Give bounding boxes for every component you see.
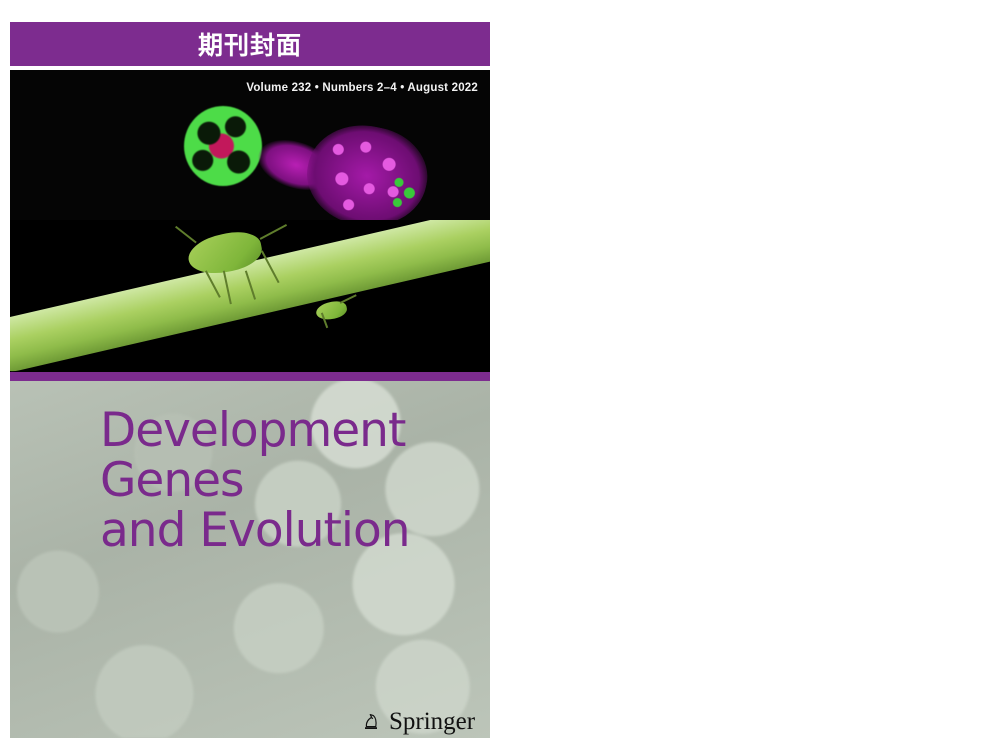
- springer-wordmark: Springer: [389, 708, 475, 736]
- journal-cover-image: Volume 232 • Numbers 2–4 • August 2022: [10, 70, 490, 738]
- fluorescence-micrograph: [160, 98, 440, 238]
- journal-title-line-1: Development: [100, 406, 490, 456]
- ovariole-green-signal: [383, 168, 423, 216]
- nymph-aphid: [315, 299, 349, 322]
- journal-title: Development Genes and Evolution: [100, 406, 490, 555]
- aphid-antenna: [175, 226, 196, 243]
- screenshot-root: 期刊封面 Volume 232 • Numbers 2–4 • August 2…: [0, 0, 1000, 750]
- germarium-micrograph-region: [184, 106, 262, 186]
- cover-purple-rule: [10, 372, 490, 381]
- cover-volume-line: Volume 232 • Numbers 2–4 • August 2022: [246, 82, 478, 94]
- left-panel-header-title: 期刊封面: [198, 26, 302, 62]
- aphid-photograph: [10, 220, 490, 372]
- cover-bottom-sem: Development Genes and Evolution Springer: [10, 372, 490, 738]
- aphid-antenna: [260, 224, 287, 239]
- cover-top-photo: Volume 232 • Numbers 2–4 • August 2022: [10, 70, 490, 372]
- journal-title-line-3: and Evolution: [100, 506, 490, 556]
- figure-panel: 研究總結 (I) Pea aphid Cricket Fly aasexual …: [500, 0, 1000, 750]
- journal-cover-panel: 期刊封面 Volume 232 • Numbers 2–4 • August 2…: [0, 0, 500, 750]
- journal-title-line-2: Genes: [100, 456, 490, 506]
- springer-logo: Springer: [358, 708, 475, 736]
- springer-knight-icon: [358, 710, 382, 734]
- ovariole-micrograph-region: [255, 116, 430, 231]
- left-panel-header: 期刊封面: [10, 22, 490, 66]
